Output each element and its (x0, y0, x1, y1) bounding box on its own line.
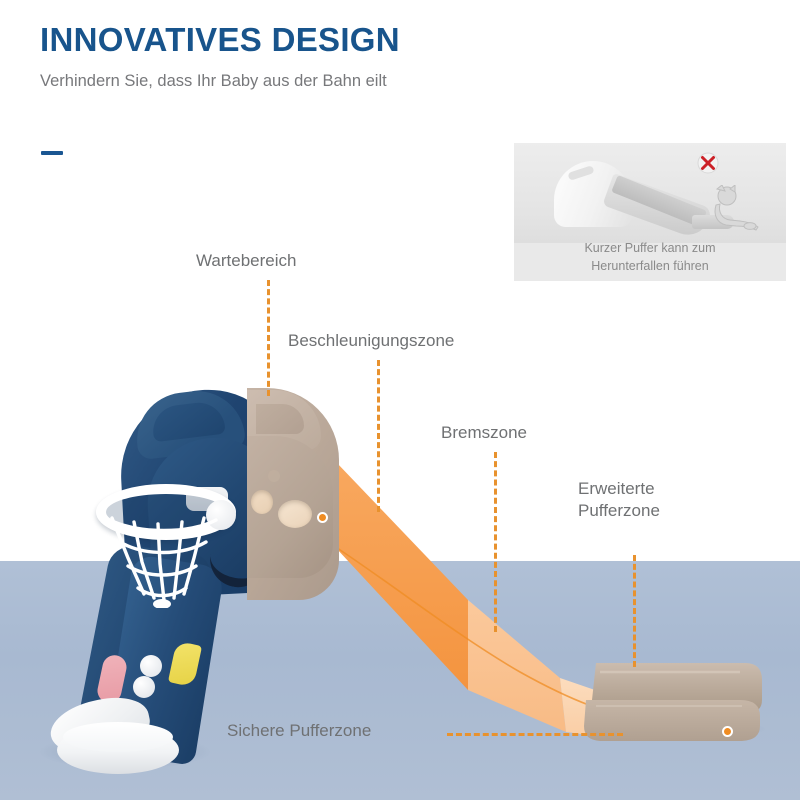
marker-dot-acceleration (317, 512, 328, 523)
infographic-canvas: INNOVATIVES DESIGN Verhindern Sie, dass … (0, 0, 800, 800)
slide-base-ring-top (63, 722, 173, 752)
warning-inset-caption: Kurzer Puffer kann zum Herunterfallen fü… (514, 239, 786, 275)
callout-label-waiting-area: Wartebereich (196, 250, 296, 272)
warning-inset-panel: Kurzer Puffer kann zum Herunterfallen fü… (514, 143, 786, 281)
inset-caption-line-1: Kurzer Puffer kann zum (514, 239, 786, 257)
decoration-white-knob-upper (140, 655, 162, 677)
warning-inset-photo (514, 143, 786, 243)
leader-line-extended-buffer-zone (633, 555, 636, 667)
callout-label-braking-zone: Bremszone (441, 422, 527, 444)
callout-label-safe-buffer-zone: Sichere Pufferzone (227, 720, 371, 742)
marker-dot-safe-buffer (722, 726, 733, 737)
leader-line-safe-buffer-zone (447, 733, 623, 736)
product-illustration (0, 0, 800, 800)
slide-taupe-hole-small (251, 490, 273, 514)
basketball-net-icon (104, 512, 228, 608)
red-x-circle-icon (696, 151, 720, 175)
decoration-white-knob-lower (133, 676, 155, 698)
leader-line-acceleration-zone (377, 360, 380, 512)
callout-label-acceleration-zone: Beschleunigungszone (288, 330, 454, 352)
slide-end-shadow (570, 718, 765, 740)
inset-child-figure (710, 185, 760, 231)
callout-label-extended-buffer-zone: Erweiterte Pufferzone (578, 478, 660, 522)
slide-taupe-dot (268, 470, 280, 482)
inset-caption-line-2: Herunterfallen führen (514, 257, 786, 275)
slide-taupe-hole-large (278, 500, 312, 528)
leader-line-braking-zone (494, 452, 497, 632)
leader-line-waiting-area (267, 280, 270, 396)
